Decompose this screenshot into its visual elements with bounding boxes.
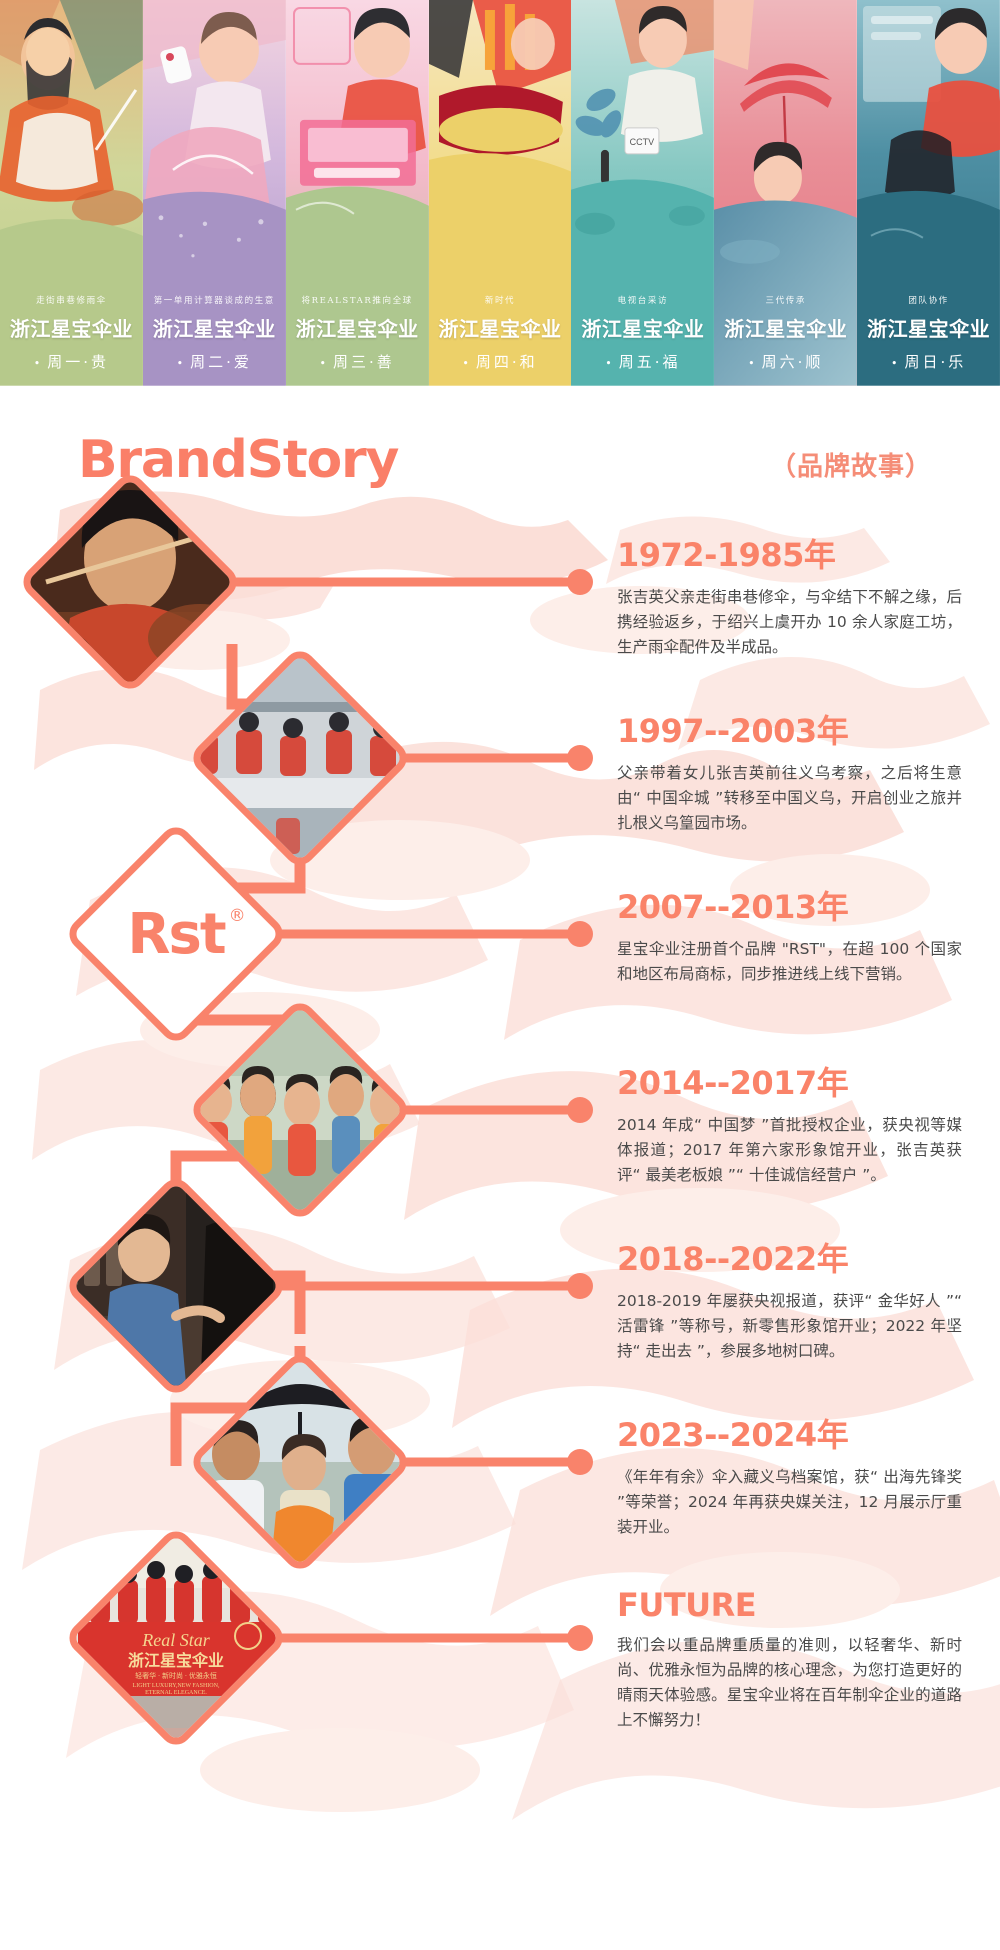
bullet-icon: •: [748, 357, 758, 370]
entry-body: 星宝伞业注册首个品牌 "RST"，在超 100 个国家和地区布局商标，同步推进线…: [617, 937, 962, 987]
entry-year: 2007--2013年: [617, 882, 962, 928]
banner-day: •周四·和: [429, 351, 572, 372]
banner-brand: 浙江星宝伞业: [286, 313, 429, 342]
banner-subtitle: 新时代: [429, 294, 572, 306]
entry-body: 2018-2019 年屡获央视报道，获评“ 金华好人 ”“ 活雷锋 ”等称号，新…: [617, 1289, 962, 1364]
entry-body: 张吉英父亲走街串巷修伞，与伞结下不解之缘，后携经验返乡，于绍兴上虞开办 10 余…: [617, 585, 962, 660]
page-subtitle: （品牌故事）: [770, 446, 932, 483]
banner-subtitle: 将REALSTAR推向全球: [286, 294, 429, 306]
photo-team-with-red-banner: Real Star 浙江星宝伞业 轻奢华 · 新时尚 · 优雅永恒 LIGHT …: [63, 1525, 289, 1751]
timeline-node-5[interactable]: [76, 1186, 276, 1386]
timeline-entry-7: FUTURE 我们会以重品牌重质量的准则，以轻奢华、新时尚、优雅永恒为品牌的核心…: [617, 1586, 962, 1733]
banner-caption: 将REALSTAR推向全球 浙江星宝伞业 •周三·善: [286, 294, 429, 372]
brand-timeline: Rst®: [0, 516, 1000, 1950]
entry-body: 2014 年成“ 中国梦 ”首批授权企业，获央视等媒体报道；2017 年第六家形…: [617, 1113, 962, 1188]
banner-brand: 浙江星宝伞业: [857, 313, 1000, 342]
bullet-icon: •: [320, 357, 330, 370]
timeline-entry-4: 2014--2017年 2014 年成“ 中国梦 ”首批授权企业，获央视等媒体报…: [617, 1058, 962, 1188]
timeline-entry-2: 1997--2003年 父亲带着女儿张吉英前往义乌考察，之后将生意由“ 中国伞城…: [617, 706, 962, 836]
entry-year: 2014--2017年: [617, 1058, 962, 1104]
svg-text:ETERNAL ELEGANCE.: ETERNAL ELEGANCE.: [145, 1690, 207, 1696]
timeline-entry-6: 2023--2024年 《年年有余》伞入藏义乌档案馆，获“ 出海先锋奖 ”等荣誉…: [617, 1410, 962, 1540]
entry-year: 1972-1985年: [617, 530, 962, 576]
banner-caption: 走街串巷修雨伞 浙江星宝伞业 •周一·贵: [0, 294, 143, 372]
banner-subtitle: 电视台采访: [571, 294, 714, 306]
hero-banner-strip: 走街串巷修雨伞 浙江星宝伞业 •周一·贵: [0, 0, 1000, 386]
svg-text:浙江星宝伞业: 浙江星宝伞业: [128, 1651, 224, 1670]
banner-caption: 新时代 浙江星宝伞业 •周四·和: [429, 294, 572, 372]
banner-day: •周三·善: [286, 351, 429, 372]
bullet-icon: •: [34, 357, 44, 370]
timeline-entry-5: 2018--2022年 2018-2019 年屡获央视报道，获评“ 金华好人 ”…: [617, 1234, 962, 1364]
entry-body: 《年年有余》伞入藏义乌档案馆，获“ 出海先锋奖 ”等荣誉；2024 年再获央媒关…: [617, 1465, 962, 1540]
bullet-icon: •: [605, 357, 615, 370]
banner-brand: 浙江星宝伞业: [571, 313, 714, 342]
timeline-node-4[interactable]: [200, 1010, 400, 1210]
timeline-node-6[interactable]: [200, 1362, 400, 1562]
banner-day: •周五·福: [571, 351, 714, 372]
banner-panel-monday[interactable]: 走街串巷修雨伞 浙江星宝伞业 •周一·贵: [0, 0, 143, 386]
brand-logo-text: Rst®: [127, 902, 224, 967]
banner-caption: 电视台采访 浙江星宝伞业 •周五·福: [571, 294, 714, 372]
banner-brand: 浙江星宝伞业: [429, 313, 572, 342]
banner-brand: 浙江星宝伞业: [143, 313, 286, 342]
banner-subtitle: 第一单用计算器谈成的生意: [143, 294, 286, 306]
banner-panel-sunday[interactable]: 团队协作 浙江星宝伞业 •周日·乐: [857, 0, 1000, 386]
entry-body: 父亲带着女儿张吉英前往义乌考察，之后将生意由“ 中国伞城 ”转移至中国义乌，开启…: [617, 761, 962, 836]
banner-subtitle: 三代传承: [714, 294, 857, 306]
entry-year: FUTURE: [617, 1586, 962, 1624]
photo-frame: Real Star 浙江星宝伞业 轻奢华 · 新时尚 · 优雅永恒 LIGHT …: [63, 1525, 289, 1751]
banner-day: •周日·乐: [857, 351, 1000, 372]
timeline-node-3[interactable]: Rst®: [76, 834, 276, 1034]
banner-caption: 第一单用计算器谈成的生意 浙江星宝伞业 •周二·爱: [143, 294, 286, 372]
timeline-node-1[interactable]: [30, 482, 230, 682]
banner-panel-thursday[interactable]: 新时代 浙江星宝伞业 •周四·和: [429, 0, 572, 386]
svg-text:Real Star: Real Star: [141, 1630, 210, 1650]
bullet-icon: •: [891, 357, 901, 370]
svg-text:CCTV: CCTV: [630, 137, 654, 147]
banner-day: •周二·爱: [143, 351, 286, 372]
bullet-icon: •: [177, 357, 187, 370]
logo-inner: Rst®: [103, 861, 249, 1007]
banner-subtitle: 走街串巷修雨伞: [0, 294, 143, 306]
timeline-node-7[interactable]: Real Star 浙江星宝伞业 轻奢华 · 新时尚 · 优雅永恒 LIGHT …: [76, 1538, 276, 1738]
brand-story-page: 走街串巷修雨伞 浙江星宝伞业 •周一·贵: [0, 0, 1000, 1950]
svg-text:LIGHT LUXURY,NEW FASHION,: LIGHT LUXURY,NEW FASHION,: [133, 1683, 220, 1689]
banner-panel-tuesday[interactable]: 第一单用计算器谈成的生意 浙江星宝伞业 •周二·爱: [143, 0, 286, 386]
svg-text:轻奢华 · 新时尚 · 优雅永恒: 轻奢华 · 新时尚 · 优雅永恒: [135, 1671, 217, 1680]
entry-year: 2023--2024年: [617, 1410, 962, 1456]
timeline-entry-3: 2007--2013年 星宝伞业注册首个品牌 "RST"，在超 100 个国家和…: [617, 882, 962, 987]
timeline-entry-1: 1972-1985年 张吉英父亲走街串巷修伞，与伞结下不解之缘，后携经验返乡，于…: [617, 530, 962, 660]
banner-caption: 团队协作 浙江星宝伞业 •周日·乐: [857, 294, 1000, 372]
banner-day: •周六·顺: [714, 351, 857, 372]
banner-panel-saturday[interactable]: 三代传承 浙江星宝伞业 •周六·顺: [714, 0, 857, 386]
banner-brand: 浙江星宝伞业: [0, 313, 143, 342]
registered-trademark-icon: ®: [229, 906, 244, 926]
banner-brand: 浙江星宝伞业: [714, 313, 857, 342]
banner-caption: 三代传承 浙江星宝伞业 •周六·顺: [714, 294, 857, 372]
entry-year: 2018--2022年: [617, 1234, 962, 1280]
bullet-icon: •: [462, 357, 472, 370]
banner-day: •周一·贵: [0, 351, 143, 372]
entry-year: 1997--2003年: [617, 706, 962, 752]
banner-subtitle: 团队协作: [857, 294, 1000, 306]
banner-panel-wednesday[interactable]: 将REALSTAR推向全球 浙江星宝伞业 •周三·善: [286, 0, 429, 386]
timeline-node-2[interactable]: [200, 658, 400, 858]
banner-panel-friday[interactable]: CCTV 电视台采访 浙江星宝伞业 •周五·福: [571, 0, 714, 386]
entry-body: 我们会以重品牌重质量的准则，以轻奢华、新时尚、优雅永恒为品牌的核心理念，为您打造…: [617, 1633, 962, 1733]
